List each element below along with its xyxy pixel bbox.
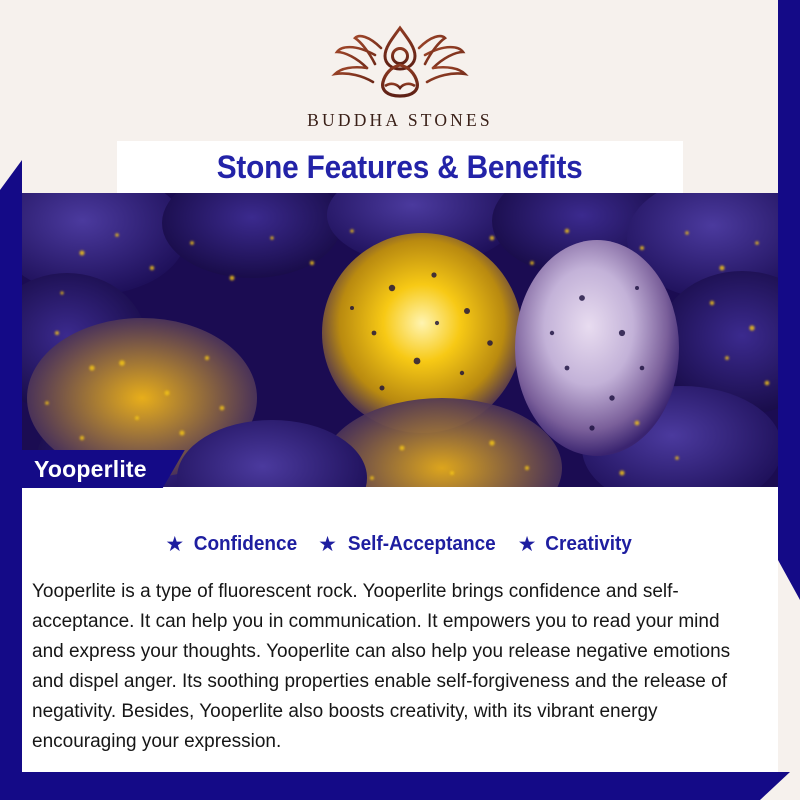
keyword-item: ★ Self-Acceptance xyxy=(318,533,499,556)
lotus-meditation-icon xyxy=(315,22,485,104)
star-icon: ★ xyxy=(518,534,537,555)
brand-name: BUDDHA STONES xyxy=(307,110,493,131)
keyword-label: Self-Acceptance xyxy=(348,533,496,556)
page-title: Stone Features & Benefits xyxy=(217,149,583,186)
content-panel: ★ Confidence ★ Self-Acceptance ★ Creativ… xyxy=(22,487,778,772)
keyword-item: ★ Confidence xyxy=(165,533,300,556)
stone-name-tag: Yooperlite xyxy=(0,450,185,488)
frame-right-bar xyxy=(778,0,800,600)
frame-bottom-bar xyxy=(0,772,800,800)
keyword-label: Confidence xyxy=(194,533,297,556)
keyword-row: ★ Confidence ★ Self-Acceptance ★ Creativ… xyxy=(22,533,778,556)
yooperlite-stones-illustration xyxy=(22,193,778,487)
star-icon: ★ xyxy=(165,534,184,555)
description-paragraph: Yooperlite is a type of fluorescent rock… xyxy=(32,577,749,757)
stone-photo xyxy=(22,193,778,487)
title-banner: Stone Features & Benefits xyxy=(117,141,683,193)
brand-logo: BUDDHA STONES xyxy=(307,22,493,131)
star-icon: ★ xyxy=(318,534,337,555)
keyword-label: Creativity xyxy=(546,533,633,556)
keyword-item: ★ Creativity xyxy=(518,533,635,556)
poster-root: BUDDHA STONES Stone Features & Benefits xyxy=(0,0,800,800)
stone-name-label: Yooperlite xyxy=(34,456,147,483)
